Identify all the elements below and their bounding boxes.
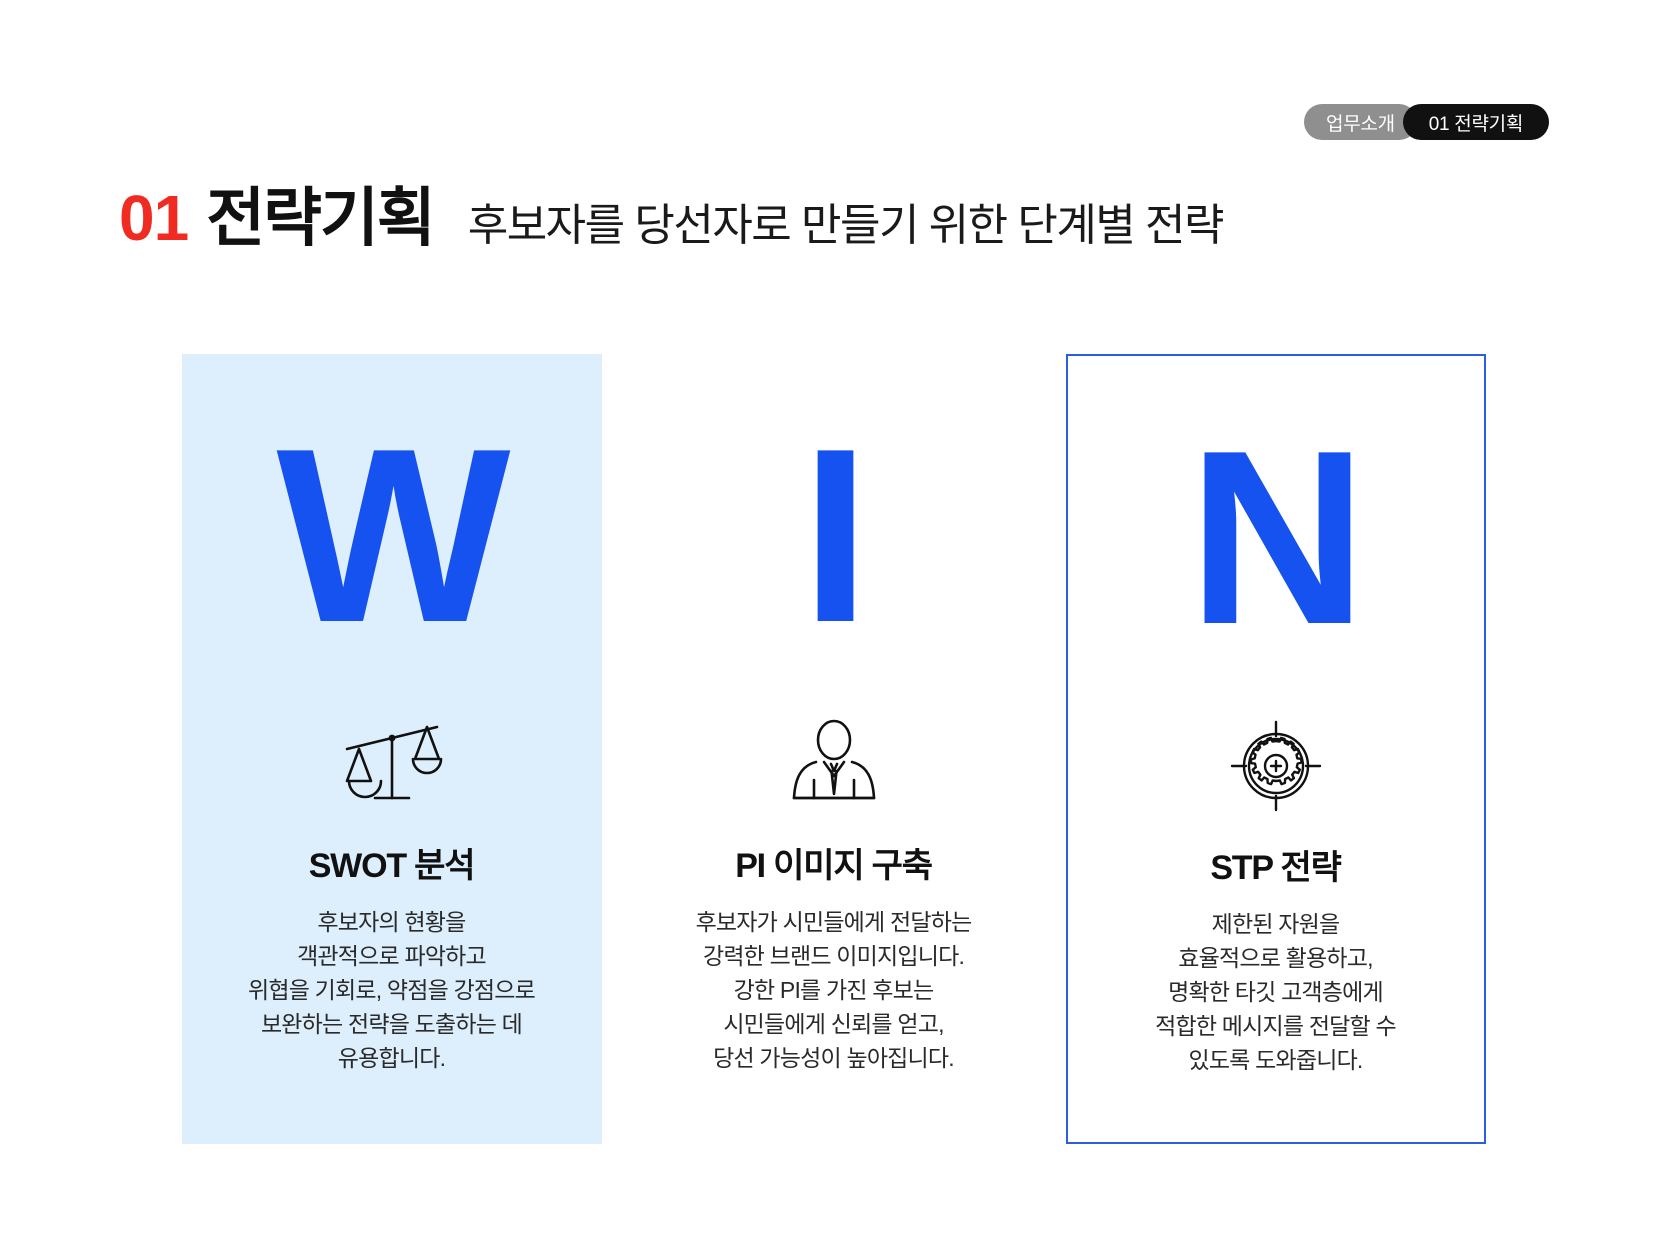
card-stp-title: STP 전략: [1210, 840, 1340, 889]
page-subtitle: 후보자를 당선자로 만들기 위한 단계별 전략: [468, 204, 1223, 248]
win-columns: W SWOT 분석 후보자의 현황을 객관적으로 파악하고 위협을 기회로, 약…: [0, 354, 1667, 1144]
page-title: 01 전략기획 후보자를 당선자로 만들기 위한 단계별 전략: [119, 186, 1223, 250]
card-stp[interactable]: N STP 전략 제한된 자원을 효율적으로 활용하고, 명확한: [1066, 354, 1486, 1144]
card-stp-body: 제한된 자원을 효율적으로 활용하고, 명확한 타깃 고객층에게 적합한 메시지…: [1143, 907, 1408, 1077]
page-title-number: 01: [119, 186, 188, 250]
breadcrumb-section-badge[interactable]: 업무소개: [1304, 104, 1417, 140]
scales-icon: [337, 716, 447, 812]
target-gear-icon: [1230, 718, 1322, 814]
breadcrumb: 업무소개 01 전략기획: [1304, 104, 1549, 140]
page-title-text: 전략기획: [206, 186, 434, 250]
card-swot[interactable]: W SWOT 분석 후보자의 현황을 객관적으로 파악하고 위협을 기회로, 약…: [182, 354, 602, 1144]
breadcrumb-current-badge[interactable]: 01 전략기획: [1403, 104, 1549, 140]
card-swot-body: 후보자의 현황을 객관적으로 파악하고 위협을 기회로, 약점을 강점으로 보완…: [236, 905, 547, 1075]
big-letter-w: W: [276, 412, 506, 660]
card-swot-title: SWOT 분석: [309, 838, 475, 887]
card-pi[interactable]: I PI 이미지 구축 후보자가 시민들에게 전달하는 강력한 브랜드 이미지입…: [624, 354, 1044, 1144]
big-letter-i: I: [801, 412, 866, 660]
big-letter-n: N: [1188, 414, 1363, 662]
card-pi-body: 후보자가 시민들에게 전달하는 강력한 브랜드 이미지입니다. 강한 PI를 가…: [684, 905, 984, 1075]
person-suit-icon: [786, 716, 882, 812]
card-pi-title: PI 이미지 구축: [735, 838, 932, 887]
